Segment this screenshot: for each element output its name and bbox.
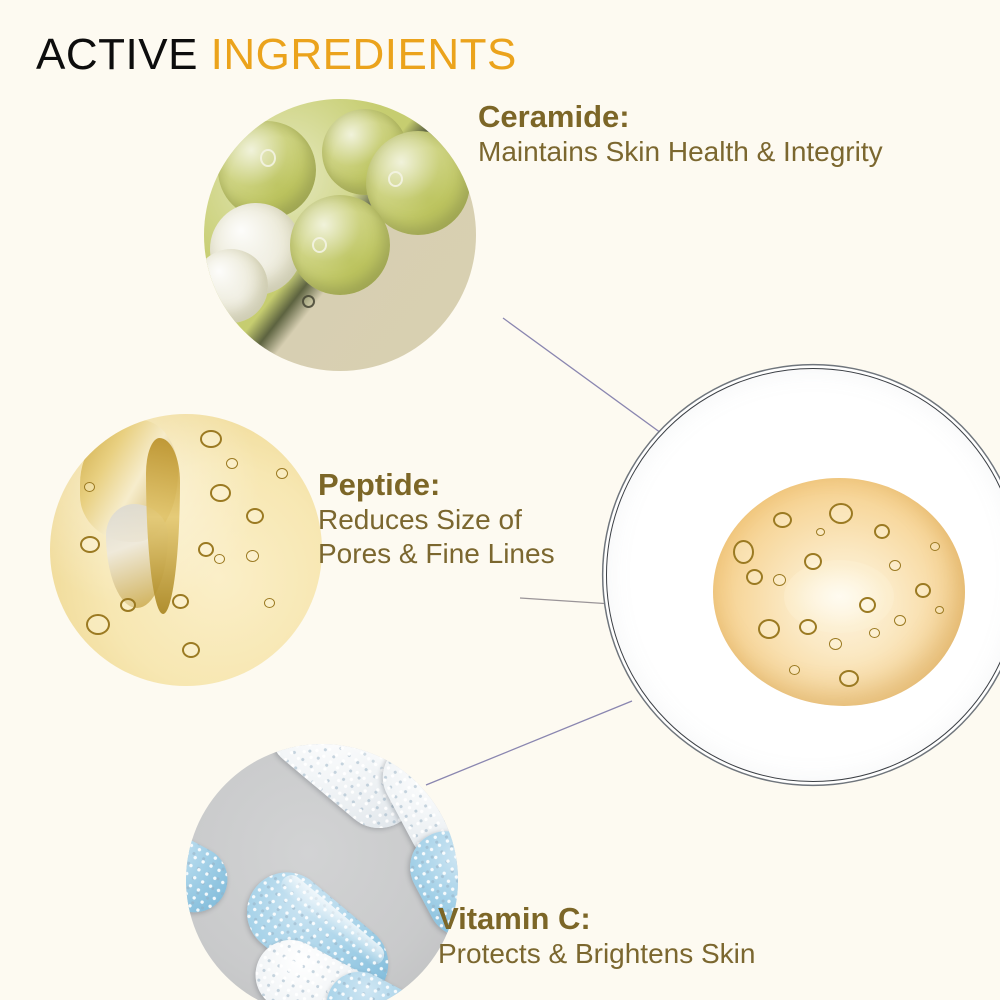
- capsule-beads: [186, 814, 239, 924]
- peptide-bubble: [246, 550, 259, 562]
- title-word-ingredients: INGREDIENTS: [211, 30, 517, 79]
- swatch-vitamin-c: [186, 744, 458, 1000]
- peptide-bubble: [210, 484, 231, 502]
- capsule-left-partial: [186, 814, 239, 924]
- serum-bubble: [789, 665, 800, 675]
- peptide-bubble: [172, 594, 189, 609]
- ingredient-desc-peptide-line-2: Pores & Fine Lines: [318, 537, 555, 571]
- serum-bubble: [930, 542, 940, 551]
- serum-bubble: [869, 628, 880, 638]
- ingredient-desc-peptide-line-1: Reduces Size of: [318, 503, 555, 537]
- peptide-bubble: [276, 468, 288, 479]
- serum-bubble: [816, 528, 825, 536]
- page-title: ACTIVE INGREDIENTS: [36, 30, 517, 80]
- ceramide-bubble: [260, 149, 276, 167]
- callout-ceramide: Ceramide: Maintains Skin Health & Integr…: [478, 100, 883, 169]
- callout-peptide: Peptide: Reduces Size of Pores & Fine Li…: [318, 468, 555, 571]
- swatch-ceramide: [204, 99, 476, 371]
- ceramide-bubble: [312, 237, 327, 253]
- infographic-canvas: ACTIVE INGREDIENTS: [0, 0, 1000, 1000]
- connector-line-peptide: [520, 598, 612, 604]
- peptide-bubble: [120, 598, 136, 612]
- serum-bubble: [894, 615, 906, 626]
- serum-bubble: [758, 619, 780, 639]
- ingredient-name-vitamin-c: Vitamin C:: [438, 902, 755, 937]
- peptide-bubble: [86, 614, 110, 635]
- serum-bubble: [799, 619, 817, 635]
- serum-bubble: [839, 670, 859, 687]
- ceramide-sphere: [290, 195, 390, 295]
- serum-bubble: [829, 503, 853, 524]
- serum-bubble: [915, 583, 931, 598]
- ceramide-bubble: [388, 171, 403, 187]
- connector-line-ceramide: [503, 318, 672, 441]
- title-word-active: ACTIVE: [36, 30, 198, 79]
- serum-bubble: [733, 540, 754, 564]
- serum-bubble: [935, 606, 944, 614]
- callout-vitamin-c: Vitamin C: Protects & Brightens Skin: [438, 902, 755, 971]
- ceramide-bubble: [302, 295, 315, 308]
- serum-bubble: [829, 638, 842, 650]
- ingredient-name-peptide: Peptide:: [318, 468, 555, 503]
- hero-serum-droplet: [713, 478, 965, 706]
- serum-bubble: [889, 560, 901, 571]
- swatch-peptide: [50, 414, 322, 686]
- serum-bubble: [859, 597, 876, 613]
- serum-bubble: [773, 512, 792, 528]
- serum-bubble: [773, 574, 786, 586]
- peptide-bubble: [198, 542, 214, 557]
- peptide-bubble: [84, 482, 95, 492]
- peptide-bubble: [182, 642, 200, 658]
- ingredient-desc-ceramide-line-1: Maintains Skin Health & Integrity: [478, 135, 883, 169]
- peptide-bubble: [80, 536, 100, 553]
- serum-bubble: [804, 553, 822, 570]
- peptide-bubble: [214, 554, 225, 564]
- ingredient-name-ceramide: Ceramide:: [478, 100, 883, 135]
- serum-bubble: [874, 524, 890, 539]
- peptide-bubble: [226, 458, 238, 469]
- peptide-bubble: [264, 598, 275, 608]
- peptide-bubble: [246, 508, 264, 524]
- peptide-bubble: [200, 430, 222, 448]
- serum-bubble: [746, 569, 763, 585]
- ingredient-desc-vitamin-c-line-1: Protects & Brightens Skin: [438, 937, 755, 971]
